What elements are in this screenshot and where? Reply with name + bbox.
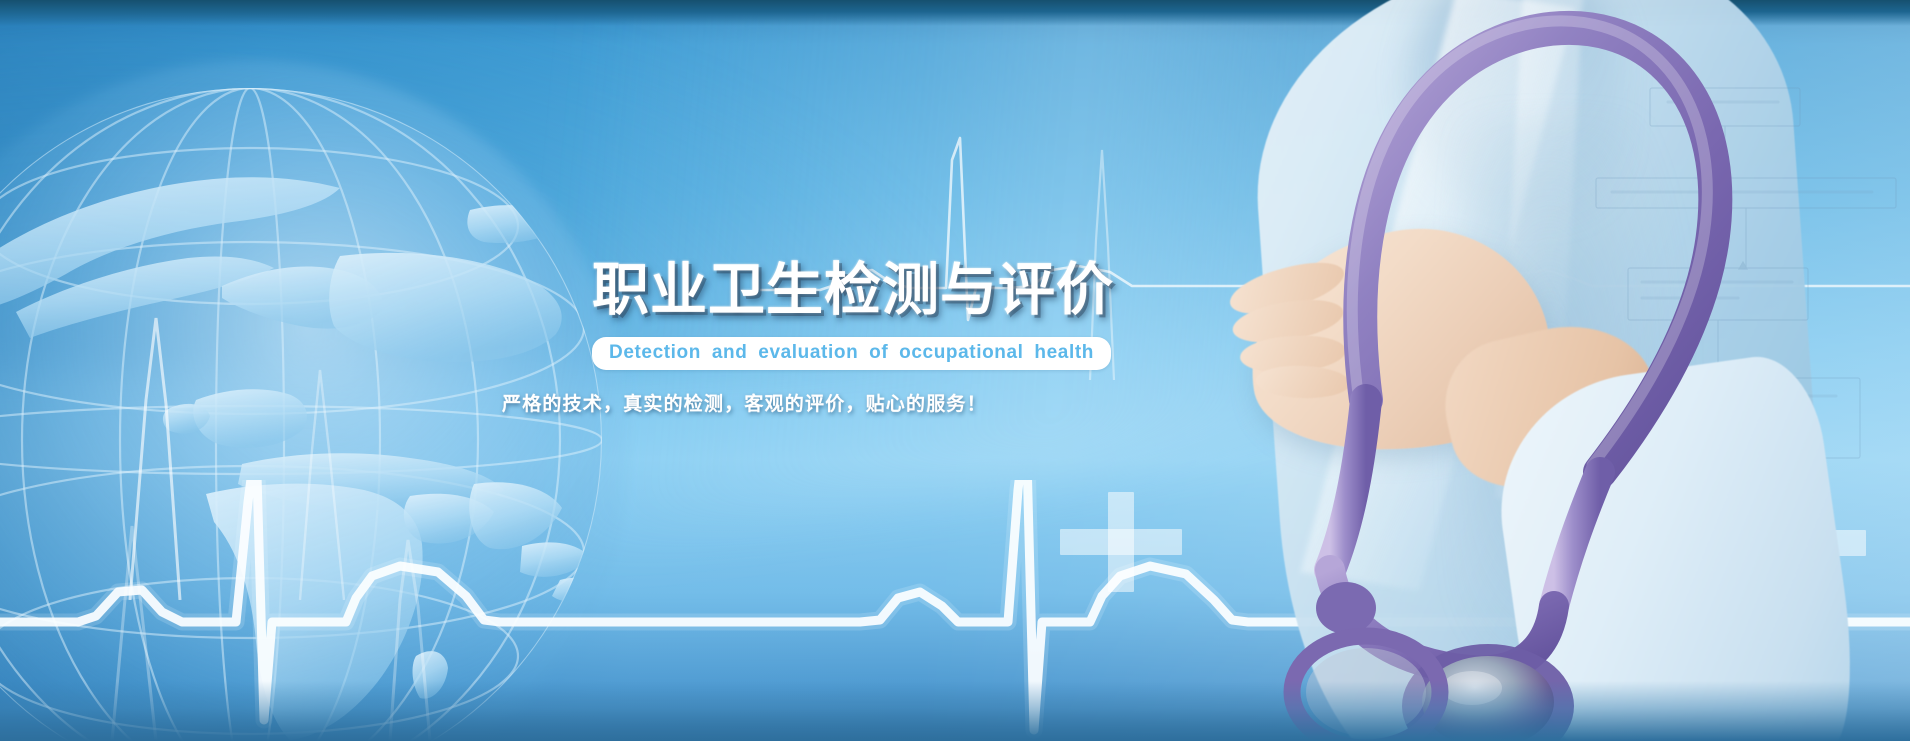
bottom-edge-shade: [0, 681, 1910, 741]
occupational-health-banner: 职业卫生检测与评价 Detection and evaluation of oc…: [0, 0, 1910, 741]
medical-cross-left: [1060, 492, 1182, 592]
doctor-photo: [1210, 0, 1910, 741]
tagline: 严格的技术，真实的检测，客观的评价，贴心的服务！: [502, 389, 1112, 416]
cross-bar-vertical: [1108, 492, 1134, 592]
subtitle-pill: Detection and evaluation of occupational…: [592, 337, 1111, 370]
stethoscope-graphic: [1210, 0, 1910, 741]
page-title: 职业卫生检测与评价: [592, 262, 1112, 319]
banner-text-block: 职业卫生检测与评价 Detection and evaluation of oc…: [592, 262, 1112, 416]
